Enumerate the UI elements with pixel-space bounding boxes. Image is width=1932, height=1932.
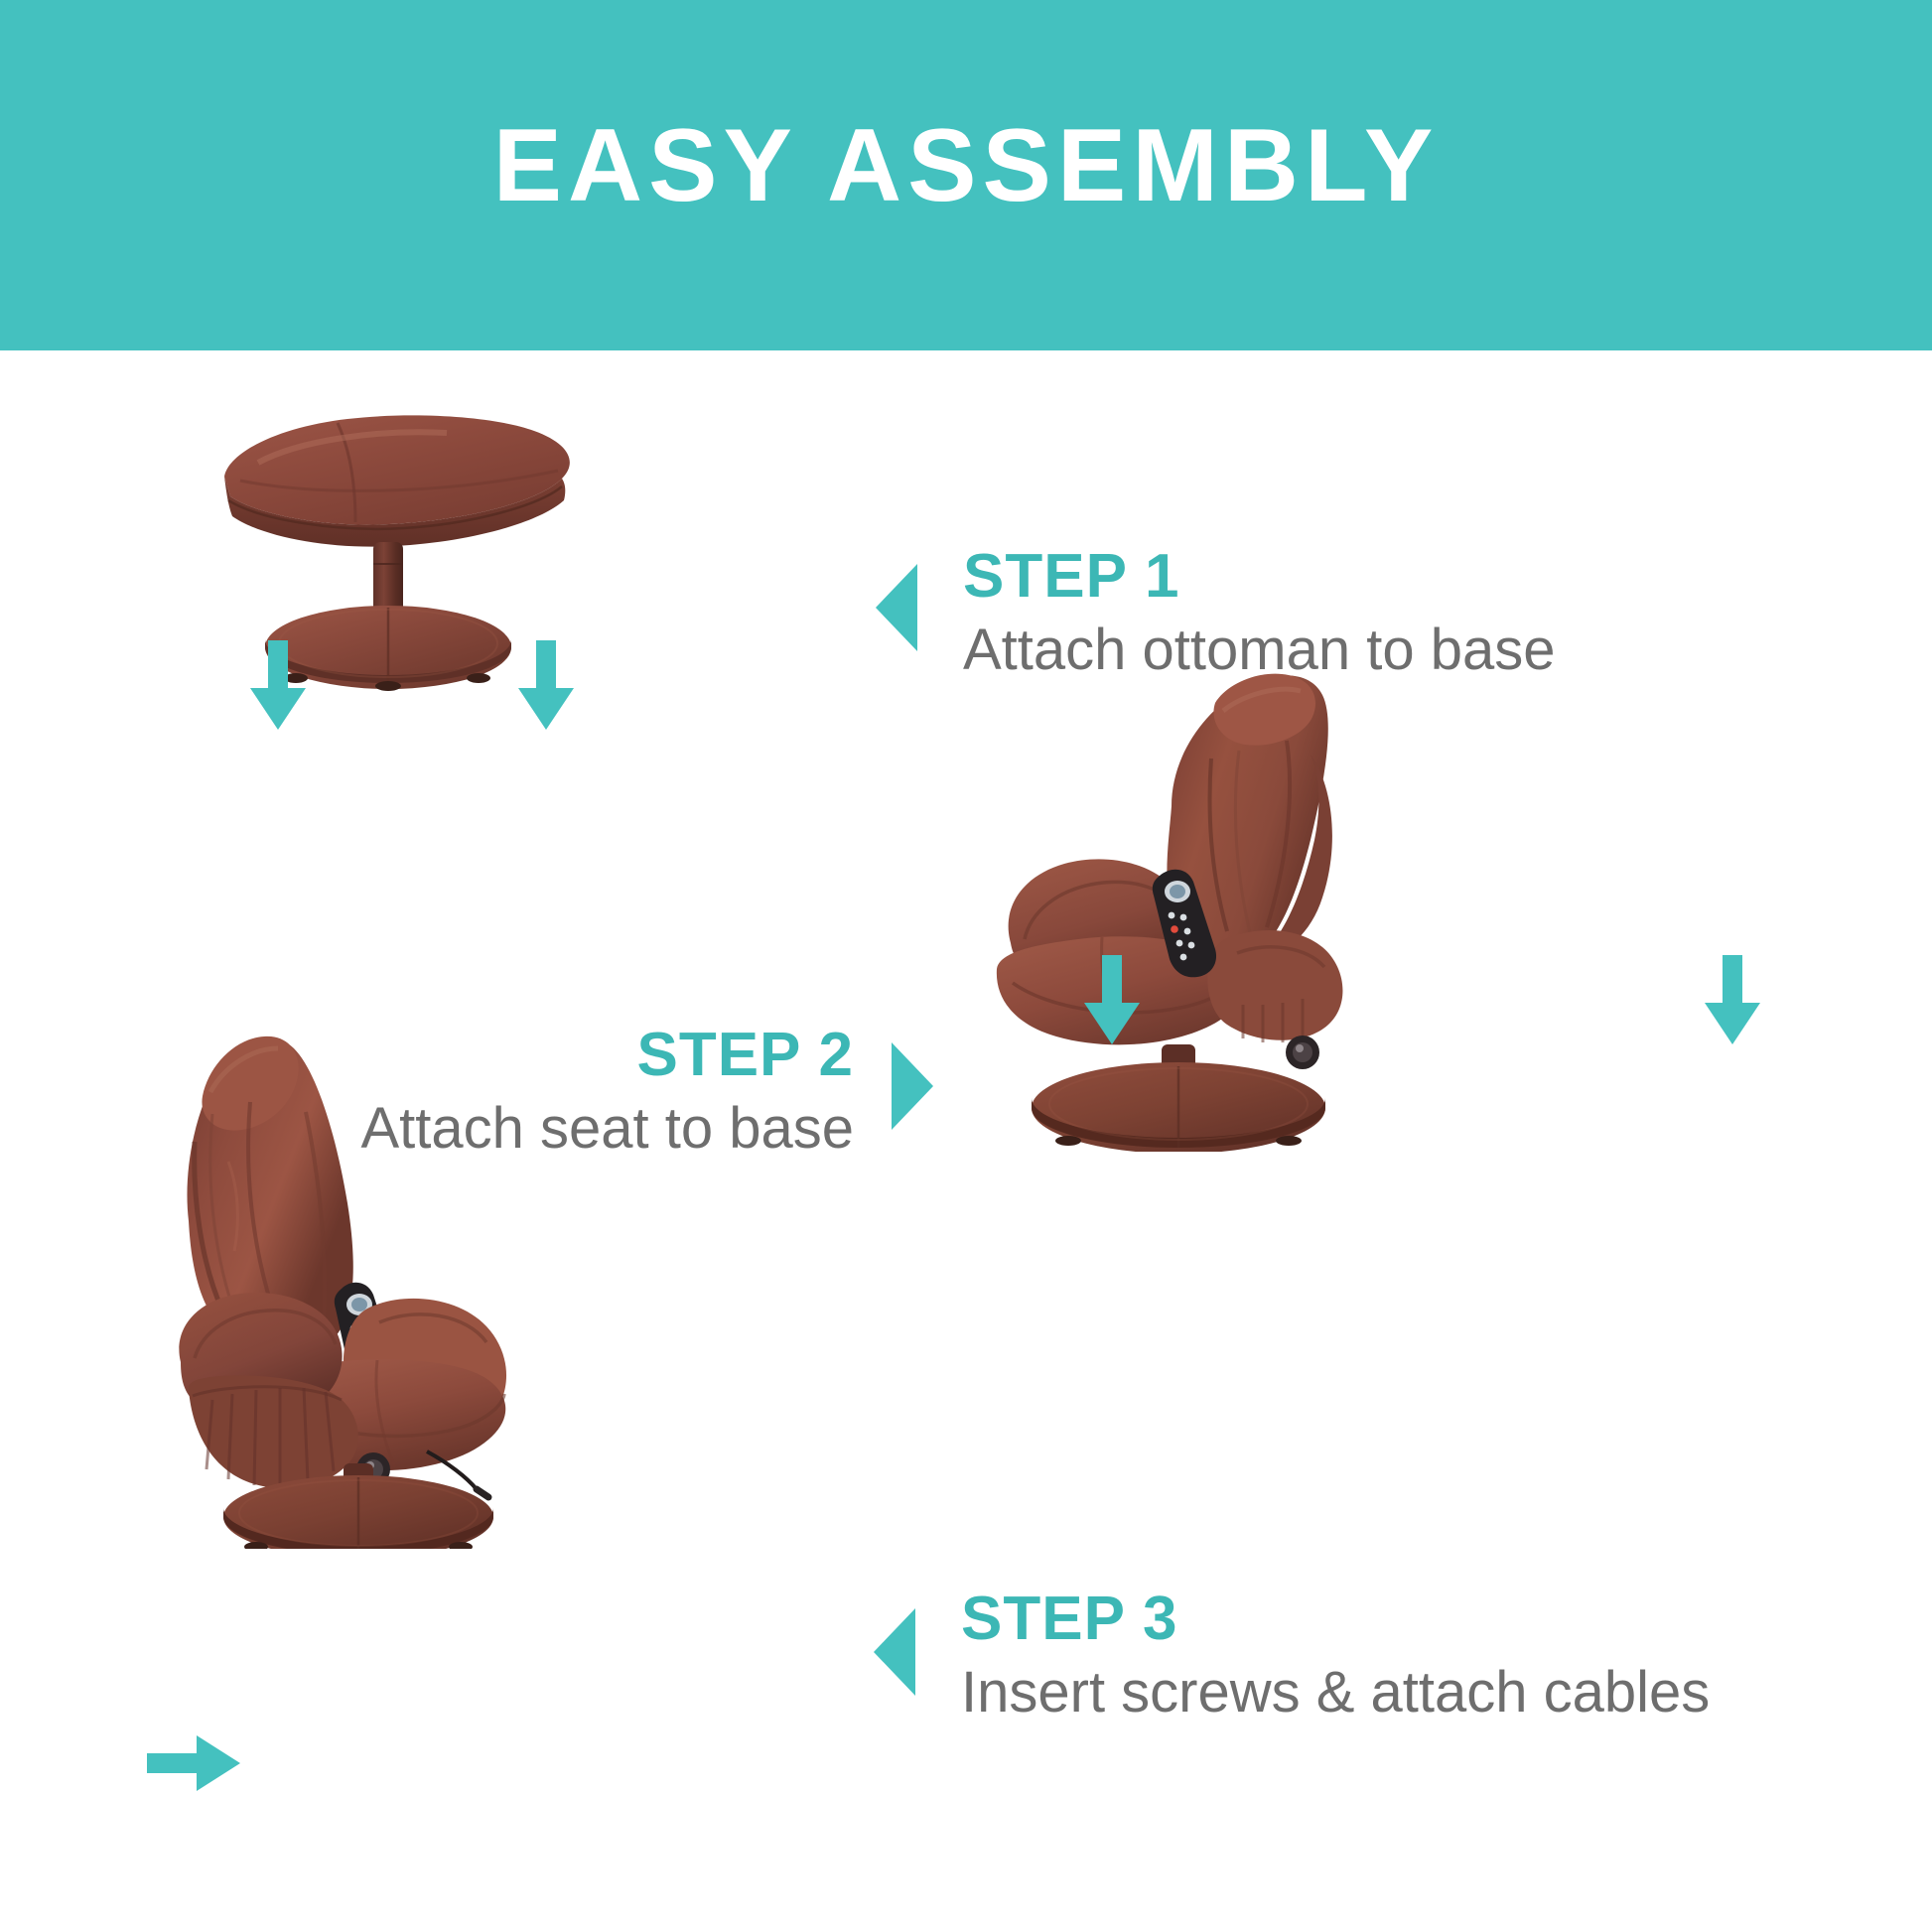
arrow-down-icon	[516, 640, 576, 737]
arrow-down-icon	[248, 640, 308, 737]
infographic-page: EASY ASSEMBLY	[0, 0, 1932, 1932]
arrow-right-icon	[147, 1732, 242, 1799]
recliner-reclined-svg	[129, 993, 685, 1549]
arrow-down-glyph	[516, 640, 576, 732]
arrow-down-glyph	[1703, 955, 1762, 1046]
arrow-down-glyph	[248, 640, 308, 732]
recline-knob-icon	[1286, 1035, 1319, 1069]
recliner-upright-illustration	[874, 655, 1489, 1152]
header-banner: EASY ASSEMBLY	[0, 0, 1932, 350]
page-title: EASY ASSEMBLY	[0, 0, 1932, 350]
arrow-down-icon	[1082, 955, 1142, 1051]
step-1-heading: STEP 1	[963, 544, 1555, 609]
arrow-down-icon	[1703, 955, 1762, 1051]
recliner-upright-svg	[874, 655, 1489, 1152]
step-3-text-block: STEP 3 Insert screws & attach cables	[961, 1587, 1710, 1729]
triangle-left-icon	[876, 564, 917, 651]
triangle-right-icon	[892, 1042, 933, 1130]
arrow-down-glyph	[1082, 955, 1142, 1046]
step-3-heading: STEP 3	[961, 1587, 1710, 1651]
step-3-description: Insert screws & attach cables	[961, 1657, 1710, 1729]
arrow-right-glyph	[147, 1732, 242, 1794]
recliner-reclined-illustration	[129, 993, 685, 1549]
triangle-left-icon	[874, 1608, 915, 1696]
